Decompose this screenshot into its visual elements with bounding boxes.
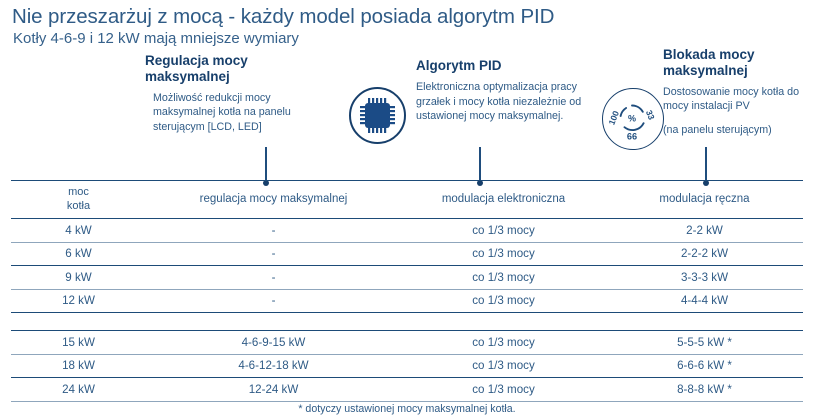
feature-power-regulation: Regulacja mocy maksymalnej Możliwość red… bbox=[145, 53, 330, 134]
feature-power-block-desc: Dostosowanie mocy kotła do mocy instalac… bbox=[663, 85, 815, 114]
cell-regulation: - bbox=[146, 289, 401, 313]
table-row: 24 kW 12-24 kW co 1/3 mocy 8-8-8 kW * bbox=[11, 378, 803, 402]
cell-manual: 6-6-6 kW * bbox=[606, 354, 803, 378]
connector-line-column-manual bbox=[705, 147, 707, 183]
cell-electronic: co 1/3 mocy bbox=[401, 331, 606, 355]
cell-power: 9 kW bbox=[11, 266, 146, 290]
microchip-icon bbox=[349, 87, 406, 144]
table-row: 12 kW - co 1/3 mocy 4-4-4 kW bbox=[11, 289, 803, 313]
cell-regulation: 12-24 kW bbox=[146, 378, 401, 402]
table-group-gap bbox=[11, 313, 803, 331]
cell-manual: 2-2-2 kW bbox=[606, 242, 803, 266]
cell-regulation: - bbox=[146, 266, 401, 290]
cell-electronic: co 1/3 mocy bbox=[401, 289, 606, 313]
column-header-power: moc kotła bbox=[11, 181, 146, 219]
infographic-page: Nie przeszarżuj z mocą - każdy model pos… bbox=[0, 0, 815, 419]
column-header-power-line1: moc bbox=[68, 186, 89, 198]
cell-manual: 5-5-5 kW * bbox=[606, 331, 803, 355]
column-header-power-line2: kotła bbox=[67, 200, 90, 212]
table-header-row: moc kotła regulacja mocy maksymalnej mod… bbox=[11, 181, 803, 219]
cell-power: 4 kW bbox=[11, 219, 146, 243]
feature-power-regulation-desc: Możliwość redukcji mocy maksymalnej kotł… bbox=[145, 91, 330, 134]
cell-regulation: 4-6-9-15 kW bbox=[146, 331, 401, 355]
percent-icon-label-33: 33 bbox=[644, 109, 657, 122]
cell-electronic: co 1/3 mocy bbox=[401, 242, 606, 266]
percent-icon-center: % bbox=[628, 114, 636, 124]
cell-regulation: 4-6-12-18 kW bbox=[146, 354, 401, 378]
percent-gauge-icon: % 100 33 66 bbox=[602, 88, 664, 150]
footnote-line-1: * dotyczy ustawionej mocy maksymalnej ko… bbox=[11, 402, 803, 417]
page-title: Nie przeszarżuj z mocą - każdy model pos… bbox=[12, 5, 554, 29]
cell-regulation: - bbox=[146, 242, 401, 266]
cell-electronic: co 1/3 mocy bbox=[401, 378, 606, 402]
page-subtitle: Kotły 4-6-9 i 12 kW mają mniejsze wymiar… bbox=[13, 30, 299, 47]
cell-power: 15 kW bbox=[11, 331, 146, 355]
cell-regulation: - bbox=[146, 219, 401, 243]
cell-power: 6 kW bbox=[11, 242, 146, 266]
table-row: 6 kW - co 1/3 mocy 2-2-2 kW bbox=[11, 242, 803, 266]
cell-power: 18 kW bbox=[11, 354, 146, 378]
connector-line-column-electronic bbox=[479, 147, 481, 183]
column-header-manual: modulacja ręczna bbox=[606, 181, 803, 219]
feature-power-block-title: Blokada mocy maksymalnej bbox=[663, 47, 815, 80]
cell-manual: 4-4-4 kW bbox=[606, 289, 803, 313]
feature-pid-title: Algorytm PID bbox=[416, 58, 584, 74]
percent-icon-label-66: 66 bbox=[627, 132, 637, 142]
cell-electronic: co 1/3 mocy bbox=[401, 354, 606, 378]
percent-icon-label-100: 100 bbox=[606, 109, 621, 126]
table-footnote-row: * dotyczy ustawionej mocy maksymalnej ko… bbox=[11, 401, 803, 419]
table-row: 4 kW - co 1/3 mocy 2-2 kW bbox=[11, 219, 803, 243]
feature-power-regulation-title: Regulacja mocy maksymalnej bbox=[145, 53, 330, 86]
table-row: 18 kW 4-6-12-18 kW co 1/3 mocy 6-6-6 kW … bbox=[11, 354, 803, 378]
cell-electronic: co 1/3 mocy bbox=[401, 219, 606, 243]
table-row: 9 kW - co 1/3 mocy 3-3-3 kW bbox=[11, 266, 803, 290]
connector-line-column-regulation bbox=[265, 147, 267, 183]
feature-pid-desc: Elektroniczna optymalizacja pracy grzałe… bbox=[416, 80, 584, 123]
cell-manual: 3-3-3 kW bbox=[606, 266, 803, 290]
cell-electronic: co 1/3 mocy bbox=[401, 266, 606, 290]
cell-power: 24 kW bbox=[11, 378, 146, 402]
cell-manual: 8-8-8 kW * bbox=[606, 378, 803, 402]
table-footnote: * dotyczy ustawionej mocy maksymalnej ko… bbox=[11, 401, 803, 419]
boiler-power-table: moc kotła regulacja mocy maksymalnej mod… bbox=[11, 180, 803, 419]
table-row: 15 kW 4-6-9-15 kW co 1/3 mocy 5-5-5 kW * bbox=[11, 331, 803, 355]
column-header-electronic: modulacja elektroniczna bbox=[401, 181, 606, 219]
feature-power-block-desc2: (na panelu sterującym) bbox=[663, 123, 815, 137]
column-header-regulation: regulacja mocy maksymalnej bbox=[146, 181, 401, 219]
cell-manual: 2-2 kW bbox=[606, 219, 803, 243]
table-group-gap-cell bbox=[11, 313, 803, 331]
cell-power: 12 kW bbox=[11, 289, 146, 313]
